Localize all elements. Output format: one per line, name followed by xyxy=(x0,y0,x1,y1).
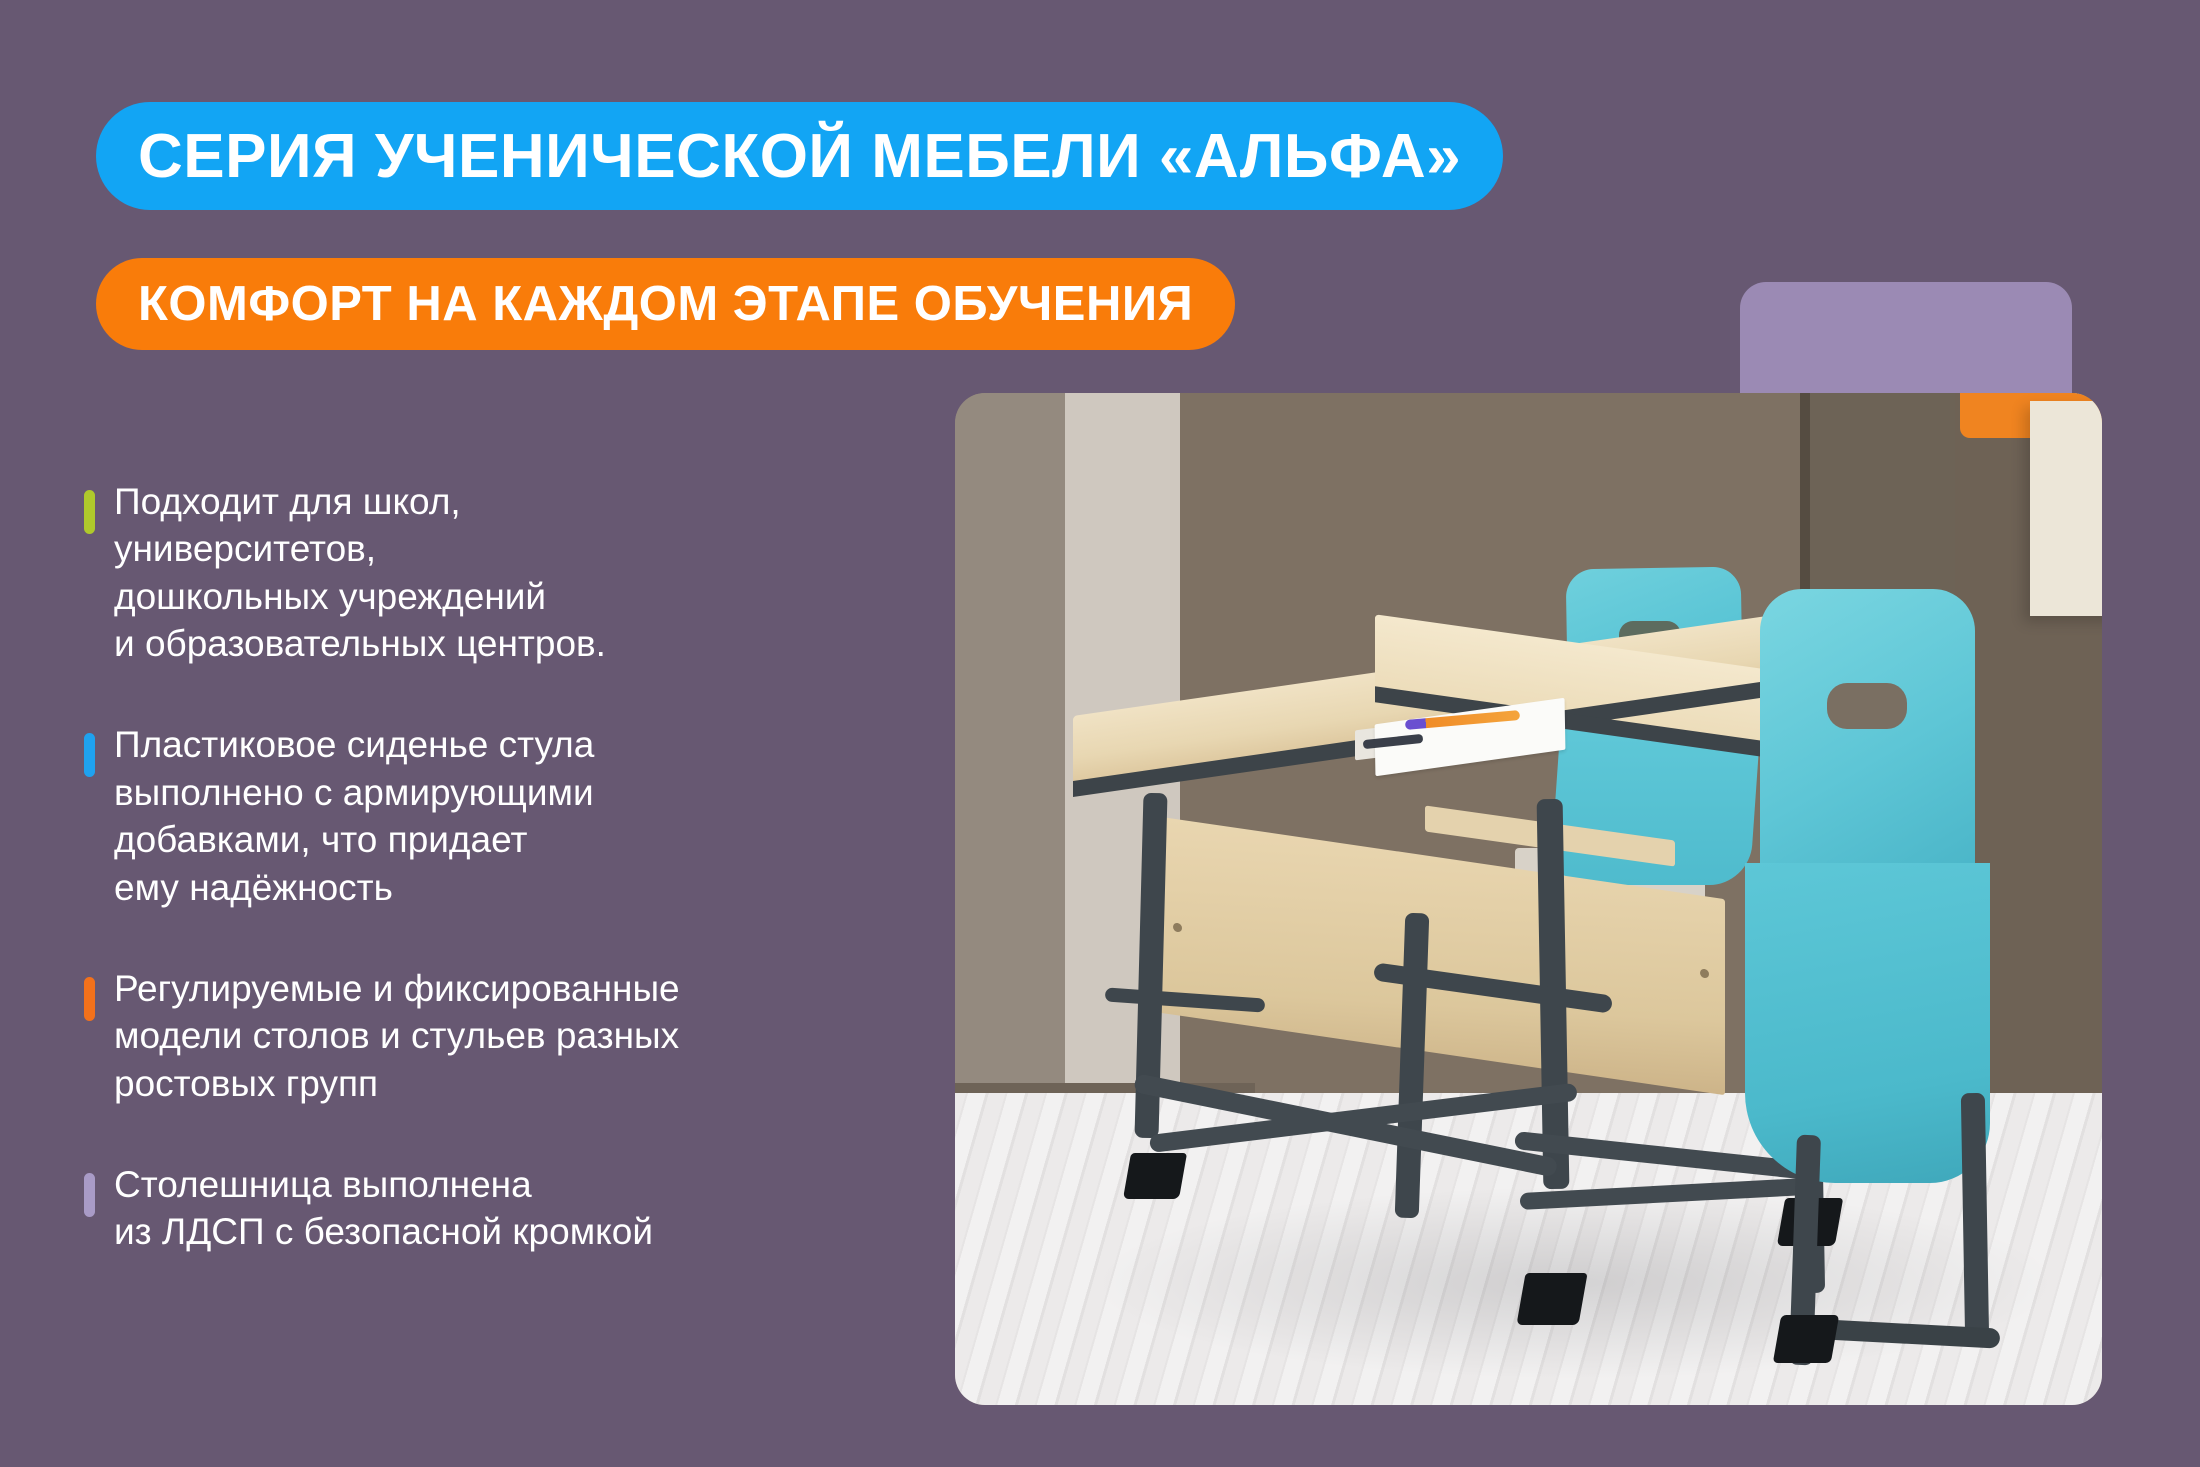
page-title: СЕРИЯ УЧЕНИЧЕСКОЙ МЕБЕЛИ «АЛЬФА» xyxy=(138,121,1461,192)
product-photo xyxy=(955,393,2102,1405)
chair-handle-hole-near xyxy=(1827,683,1907,729)
feature-text: Регулируемые и фиксированные модели стол… xyxy=(114,965,904,1107)
desk-foot xyxy=(1123,1153,1187,1199)
bullet-marker-icon xyxy=(84,1173,95,1217)
bullet-marker-icon xyxy=(84,977,95,1021)
page-title-banner: СЕРИЯ УЧЕНИЧЕСКОЙ МЕБЕЛИ «АЛЬФА» xyxy=(96,102,1503,210)
feature-text: Пластиковое сиденье стула выполнено с ар… xyxy=(114,721,904,910)
feature-item-2: Пластиковое сиденье стула выполнено с ар… xyxy=(84,721,904,910)
chair-seat-near xyxy=(1745,863,1990,1183)
desk-foot xyxy=(1516,1273,1587,1325)
feature-item-1: Подходит для школ, университетов, дошкол… xyxy=(84,478,904,667)
chair-foot xyxy=(1773,1315,1839,1363)
bullet-marker-icon xyxy=(84,490,95,534)
chair-backrest-near xyxy=(1760,589,1975,889)
poster-root: СЕРИЯ УЧЕНИЧЕСКОЙ МЕБЕЛИ «АЛЬФА» КОМФОРТ… xyxy=(0,0,2200,1467)
page-subtitle: КОМФОРТ НА КАЖДОМ ЭТАПЕ ОБУЧЕНИЯ xyxy=(138,276,1193,332)
bullet-marker-icon xyxy=(84,733,95,777)
feature-item-3: Регулируемые и фиксированные модели стол… xyxy=(84,965,904,1107)
modesty-screw xyxy=(1700,968,1709,978)
modesty-screw xyxy=(1173,922,1182,932)
chair-leg-near-right xyxy=(1961,1093,1989,1343)
feature-text: Подходит для школ, университетов, дошкол… xyxy=(114,478,904,667)
page-subtitle-banner: КОМФОРТ НА КАЖДОМ ЭТАПЕ ОБУЧЕНИЯ xyxy=(96,258,1235,350)
feature-item-4: Столешница выполнена из ЛДСП с безопасно… xyxy=(84,1161,904,1256)
feature-list: Подходит для школ, университетов, дошкол… xyxy=(84,478,904,1256)
whiteboard xyxy=(2030,401,2102,616)
feature-text: Столешница выполнена из ЛДСП с безопасно… xyxy=(114,1161,904,1256)
